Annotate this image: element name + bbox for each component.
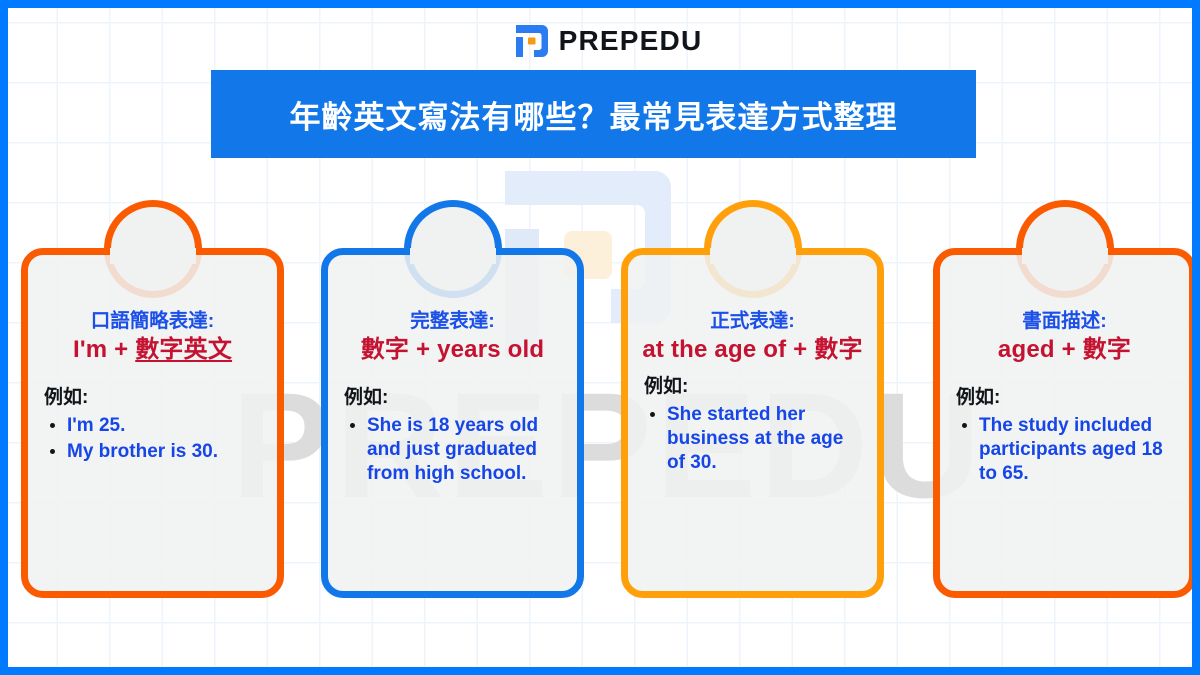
brand-name: PREPEDU	[559, 25, 703, 57]
example-item: My brother is 30.	[67, 440, 264, 464]
formula-plain: at the age of + 數字	[642, 336, 862, 363]
tab-seam-mask	[1022, 248, 1108, 264]
card-heading: 書面描述:	[953, 309, 1176, 333]
formula-plain: aged + 數字	[998, 336, 1131, 363]
formula-plain: 數字 + years old	[361, 336, 545, 363]
card-formula: at the age of + 數字	[641, 335, 864, 364]
example-label: 例如:	[341, 382, 564, 409]
card-formula: aged + 數字	[953, 335, 1176, 364]
example-list: I'm 25.My brother is 30.	[41, 414, 264, 464]
example-list: She is 18 years old and just graduated f…	[341, 414, 564, 486]
prepedu-logo-icon	[514, 24, 550, 58]
example-item: The study included participants aged 18 …	[979, 414, 1176, 486]
card-formal-expression: 正式表達: at the age of + 數字 例如: She started…	[621, 200, 884, 606]
infographic-poster: PREPEDU PREPEDU 年齡英文寫法有哪些？最常見表達方式整理 口語簡略…	[0, 0, 1200, 675]
card-formula: I'm + 數字英文	[41, 335, 264, 364]
card-full-expression: 完整表達: 數字 + years old 例如: She is 18 years…	[321, 200, 584, 606]
cards-row: 口語簡略表達: I'm + 數字英文 例如: I'm 25.My brother…	[8, 200, 1200, 610]
tab-seam-mask	[710, 248, 796, 264]
brand-header: PREPEDU	[8, 24, 1200, 58]
example-item: She started her business at the age of 3…	[667, 403, 864, 475]
card-body: 正式表達: at the age of + 數字 例如: She started…	[621, 248, 884, 598]
card-written-description: 書面描述: aged + 數字 例如: The study included p…	[933, 200, 1196, 606]
example-label: 例如:	[953, 382, 1176, 409]
card-formula: 數字 + years old	[341, 335, 564, 364]
tab-seam-mask	[110, 248, 196, 264]
formula-plain: I'm +	[73, 336, 135, 363]
example-list: She started her business at the age of 3…	[641, 403, 864, 475]
example-item: She is 18 years old and just graduated f…	[367, 414, 564, 486]
title-banner: 年齡英文寫法有哪些？最常見表達方式整理	[211, 70, 976, 158]
card-heading: 正式表達:	[641, 309, 864, 333]
page-title: 年齡英文寫法有哪些？最常見表達方式整理	[290, 92, 898, 137]
tab-seam-mask	[410, 248, 496, 264]
card-colloquial: 口語簡略表達: I'm + 數字英文 例如: I'm 25.My brother…	[21, 200, 284, 606]
example-list: The study included participants aged 18 …	[953, 414, 1176, 486]
formula-underlined: 數字英文	[135, 336, 232, 363]
card-body: 口語簡略表達: I'm + 數字英文 例如: I'm 25.My brother…	[21, 248, 284, 598]
card-body: 完整表達: 數字 + years old 例如: She is 18 years…	[321, 248, 584, 598]
example-label: 例如:	[641, 371, 864, 398]
card-body: 書面描述: aged + 數字 例如: The study included p…	[933, 248, 1196, 598]
example-label: 例如:	[41, 382, 264, 409]
example-item: I'm 25.	[67, 414, 264, 438]
card-heading: 口語簡略表達:	[41, 309, 264, 333]
card-heading: 完整表達:	[341, 309, 564, 333]
